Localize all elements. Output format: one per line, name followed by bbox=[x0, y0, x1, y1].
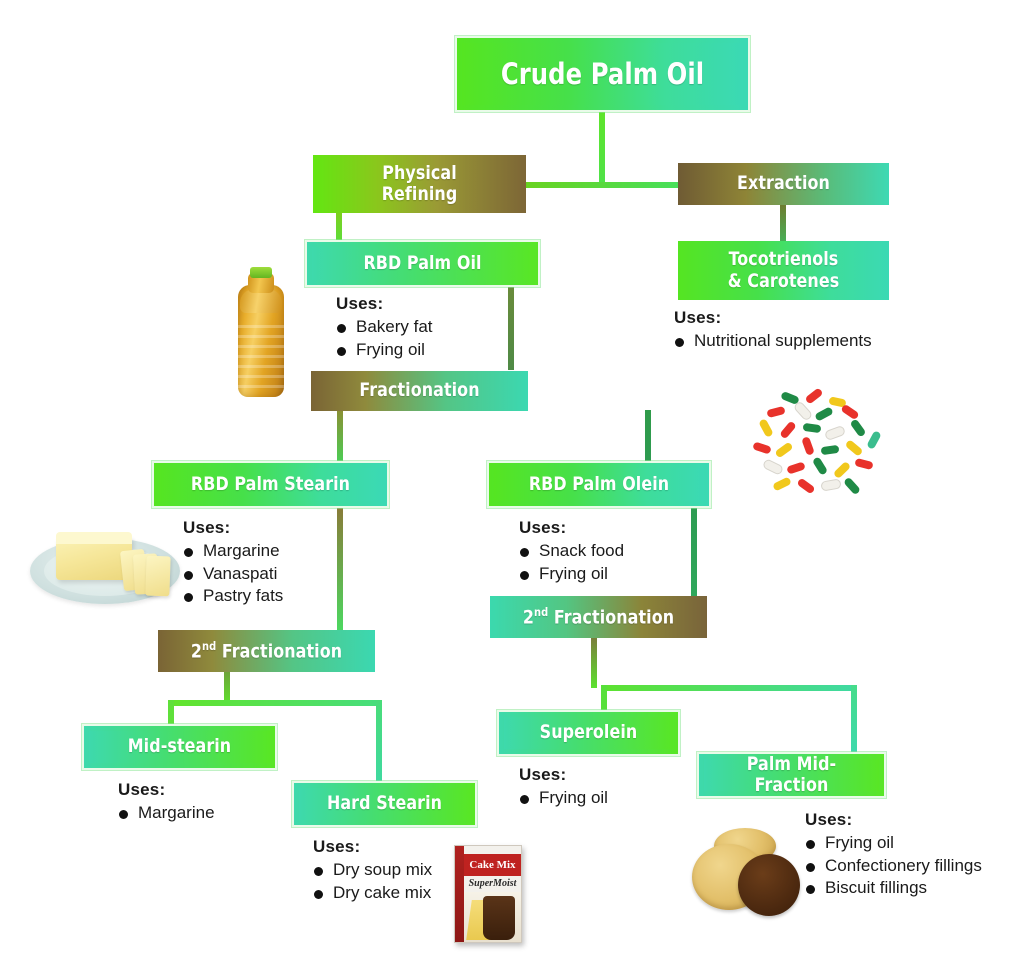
connector-right2nd-to-superolein bbox=[601, 685, 607, 712]
uses-mid-stearin: Uses: Margarine bbox=[118, 780, 215, 825]
butter-slice bbox=[145, 556, 170, 597]
connector-rbdpalmoil-to-fractionation bbox=[508, 286, 514, 370]
node-hard-stearin-label: Hard Stearin bbox=[305, 793, 464, 814]
node-crude-palm-oil[interactable]: Crude Palm Oil bbox=[455, 36, 750, 112]
node-second-fractionation-right[interactable]: 2nd Fractionation bbox=[490, 596, 707, 638]
node-second-fractionation-left-prefix: 2 bbox=[191, 640, 202, 662]
node-rbd-palm-olein[interactable]: RBD Palm Olein bbox=[487, 461, 711, 508]
cake-mix-box-photo: Cake Mix SuperMoist bbox=[454, 845, 524, 945]
list-item: Margarine bbox=[183, 540, 283, 563]
uses-rbd-palm-oil: Uses: Bakery fat Frying oil bbox=[336, 294, 433, 361]
connector-extraction-to-tocotrienols bbox=[780, 204, 786, 244]
list-item: Dry cake mix bbox=[313, 882, 432, 905]
list-item: Nutritional supplements bbox=[674, 330, 872, 353]
node-second-fractionation-left[interactable]: 2nd Fractionation bbox=[158, 630, 375, 672]
node-rbd-palm-oil-label: RBD Palm Oil bbox=[320, 253, 526, 274]
butter-on-plate-photo bbox=[30, 524, 185, 610]
node-physical-refining-label-line2: Refining bbox=[382, 183, 458, 205]
node-physical-refining[interactable]: Physical Refining bbox=[313, 155, 526, 213]
node-mid-stearin[interactable]: Mid-stearin bbox=[82, 724, 277, 770]
list-item: Margarine bbox=[118, 802, 215, 825]
uses-tocotrienols: Uses: Nutritional supplements bbox=[674, 308, 872, 353]
node-second-fractionation-right-prefix: 2 bbox=[523, 606, 534, 628]
uses-title: Uses: bbox=[805, 810, 982, 830]
uses-hard-stearin: Uses: Dry soup mix Dry cake mix bbox=[313, 837, 432, 904]
cake-mix-title: Cake Mix bbox=[464, 855, 521, 875]
connector-left2nd-to-hardstearin bbox=[376, 700, 382, 782]
uses-list: Frying oil bbox=[519, 787, 608, 810]
node-extraction-label: Extraction bbox=[685, 173, 881, 194]
butter-block-top bbox=[56, 532, 132, 544]
node-palm-mid-fraction[interactable]: Palm Mid-Fraction bbox=[697, 752, 886, 798]
list-item: Vanaspati bbox=[183, 563, 283, 586]
uses-list: Bakery fat Frying oil bbox=[336, 316, 433, 361]
bottle-cap bbox=[250, 267, 272, 278]
connector-right2nd-down bbox=[591, 638, 597, 688]
biscuits-photo bbox=[690, 828, 802, 928]
uses-title: Uses: bbox=[336, 294, 433, 314]
cake-mix-subtitle: SuperMoist bbox=[465, 878, 520, 889]
node-rbd-palm-stearin[interactable]: RBD Palm Stearin bbox=[152, 461, 389, 508]
connector-right2nd-horizontal bbox=[601, 685, 857, 691]
node-mid-stearin-label: Mid-stearin bbox=[95, 736, 263, 757]
node-superolein[interactable]: Superolein bbox=[497, 710, 680, 756]
connector-stearin-to-2nd-fractionation bbox=[337, 506, 343, 636]
node-tocotrienols-carotenes[interactable]: Tocotrienols & Carotenes bbox=[678, 241, 889, 300]
node-rbd-palm-olein-label: RBD Palm Olein bbox=[501, 474, 696, 495]
uses-title: Uses: bbox=[313, 837, 432, 857]
cooking-oil-bottle-photo bbox=[228, 267, 296, 412]
node-second-fractionation-right-superscript: nd bbox=[534, 605, 548, 619]
uses-title: Uses: bbox=[183, 518, 283, 538]
uses-title: Uses: bbox=[118, 780, 215, 800]
list-item: Biscuit fillings bbox=[805, 877, 982, 900]
connector-olein-to-2nd-fractionation bbox=[691, 506, 697, 598]
node-second-fractionation-left-suffix: Fractionation bbox=[216, 640, 342, 662]
uses-superolein: Uses: Frying oil bbox=[519, 765, 608, 810]
node-fractionation-label: Fractionation bbox=[319, 380, 521, 401]
node-fractionation[interactable]: Fractionation bbox=[311, 371, 528, 411]
node-second-fractionation-left-superscript: nd bbox=[202, 639, 216, 653]
uses-palm-mid-fraction: Uses: Frying oil Confectionery fillings … bbox=[805, 810, 982, 900]
node-physical-refining-label-line1: Physical bbox=[382, 162, 457, 184]
uses-title: Uses: bbox=[519, 518, 624, 538]
node-rbd-palm-oil[interactable]: RBD Palm Oil bbox=[305, 240, 540, 287]
node-extraction[interactable]: Extraction bbox=[678, 163, 889, 205]
uses-title: Uses: bbox=[674, 308, 872, 328]
node-second-fractionation-right-suffix: Fractionation bbox=[548, 606, 674, 628]
node-rbd-palm-stearin-label: RBD Palm Stearin bbox=[167, 474, 374, 495]
node-superolein-label: Superolein bbox=[510, 722, 667, 743]
connector-right2nd-to-palmmidfraction bbox=[851, 685, 857, 753]
list-item: Confectionery fillings bbox=[805, 855, 982, 878]
list-item: Frying oil bbox=[519, 787, 608, 810]
list-item: Bakery fat bbox=[336, 316, 433, 339]
uses-list: Margarine Vanaspati Pastry fats bbox=[183, 540, 283, 608]
uses-list: Dry soup mix Dry cake mix bbox=[313, 859, 432, 904]
list-item: Snack food bbox=[519, 540, 624, 563]
connector-crude-down bbox=[599, 110, 605, 185]
uses-list: Nutritional supplements bbox=[674, 330, 872, 353]
node-tocotrienols-label-line1: Tocotrienols bbox=[729, 248, 839, 270]
list-item: Frying oil bbox=[805, 832, 982, 855]
uses-rbd-palm-olein: Uses: Snack food Frying oil bbox=[519, 518, 624, 585]
uses-list: Snack food Frying oil bbox=[519, 540, 624, 585]
uses-rbd-palm-stearin: Uses: Margarine Vanaspati Pastry fats bbox=[183, 518, 283, 608]
node-crude-palm-oil-label: Crude Palm Oil bbox=[472, 58, 733, 90]
node-tocotrienols-label-line2: & Carotenes bbox=[728, 270, 840, 292]
uses-list: Margarine bbox=[118, 802, 215, 825]
uses-list: Frying oil Confectionery fillings Biscui… bbox=[805, 832, 982, 900]
list-item: Dry soup mix bbox=[313, 859, 432, 882]
list-item: Pastry fats bbox=[183, 585, 283, 608]
connector-left2nd-horizontal bbox=[168, 700, 382, 706]
biscuit-chocolate bbox=[738, 854, 800, 916]
list-item: Frying oil bbox=[519, 563, 624, 586]
cake-mix-carton: Cake Mix SuperMoist bbox=[454, 845, 522, 943]
cake-mix-spine bbox=[455, 846, 464, 942]
node-hard-stearin[interactable]: Hard Stearin bbox=[292, 781, 477, 827]
node-palm-mid-fraction-label: Palm Mid-Fraction bbox=[710, 754, 873, 797]
list-item: Frying oil bbox=[336, 339, 433, 362]
capsules-pile-photo bbox=[745, 390, 895, 502]
palm-oil-flowchart: Crude Palm Oil Physical Refining Extract… bbox=[0, 0, 1024, 965]
cake-slice-chocolate bbox=[483, 896, 515, 940]
uses-title: Uses: bbox=[519, 765, 608, 785]
connector-split-horizontal bbox=[520, 182, 685, 188]
